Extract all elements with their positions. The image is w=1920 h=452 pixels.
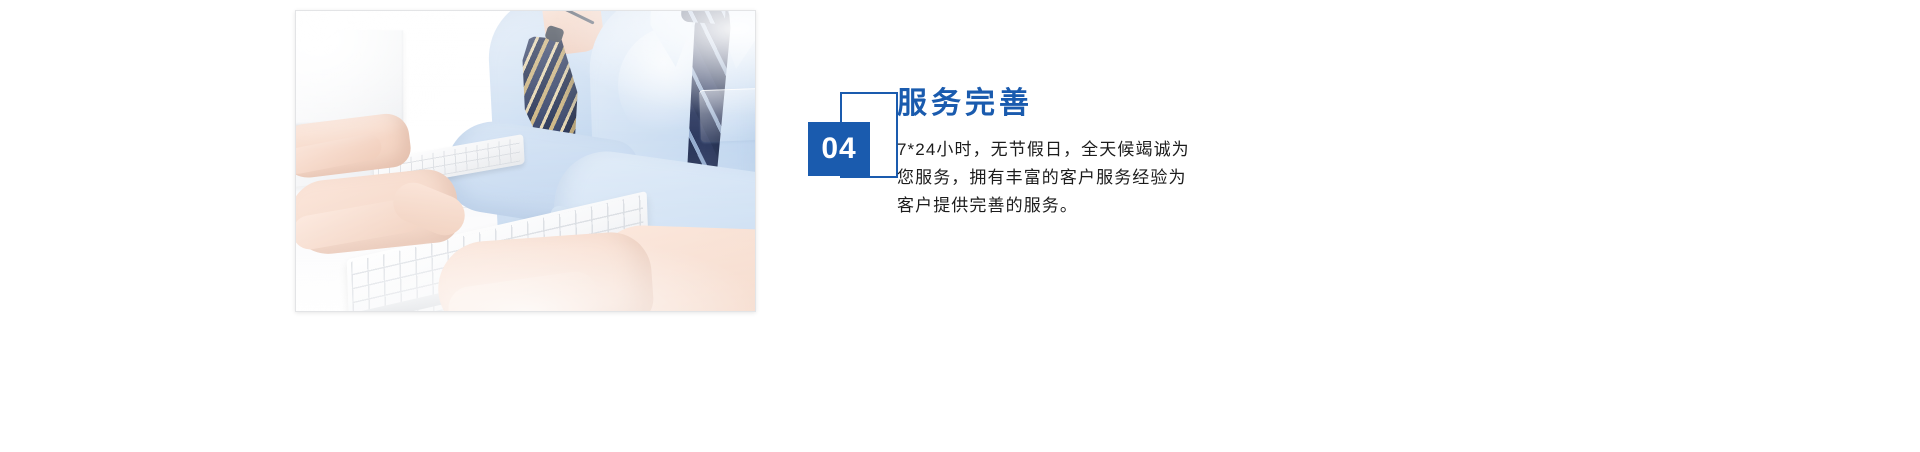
feature-heading: 服务完善 bbox=[897, 86, 1367, 122]
description-line: 您服务，拥有丰富的客户服务经验为 bbox=[897, 164, 1367, 192]
feature-photo-card bbox=[295, 10, 756, 312]
customer-service-photo bbox=[296, 11, 755, 311]
promo-feature-section: 04 服务完善 7*24小时，无节假日，全天候竭诚为 您服务，拥有丰富的客户服务… bbox=[0, 0, 1920, 452]
description-line: 客户提供完善的服务。 bbox=[897, 192, 1367, 220]
shirt-pocket bbox=[699, 88, 755, 142]
feature-description: 7*24小时，无节假日，全天候竭诚为 您服务，拥有丰富的客户服务经验为 客户提供… bbox=[897, 136, 1367, 220]
step-number-badge: 04 bbox=[806, 92, 902, 184]
badge-filled-square: 04 bbox=[808, 122, 870, 176]
feature-text-column: 服务完善 7*24小时，无节假日，全天候竭诚为 您服务，拥有丰富的客户服务经验为… bbox=[897, 86, 1367, 220]
feature-content: 04 服务完善 7*24小时，无节假日，全天候竭诚为 您服务，拥有丰富的客户服务… bbox=[806, 86, 1506, 256]
description-line: 7*24小时，无节假日，全天候竭诚为 bbox=[897, 136, 1367, 164]
badge-number: 04 bbox=[821, 134, 856, 164]
